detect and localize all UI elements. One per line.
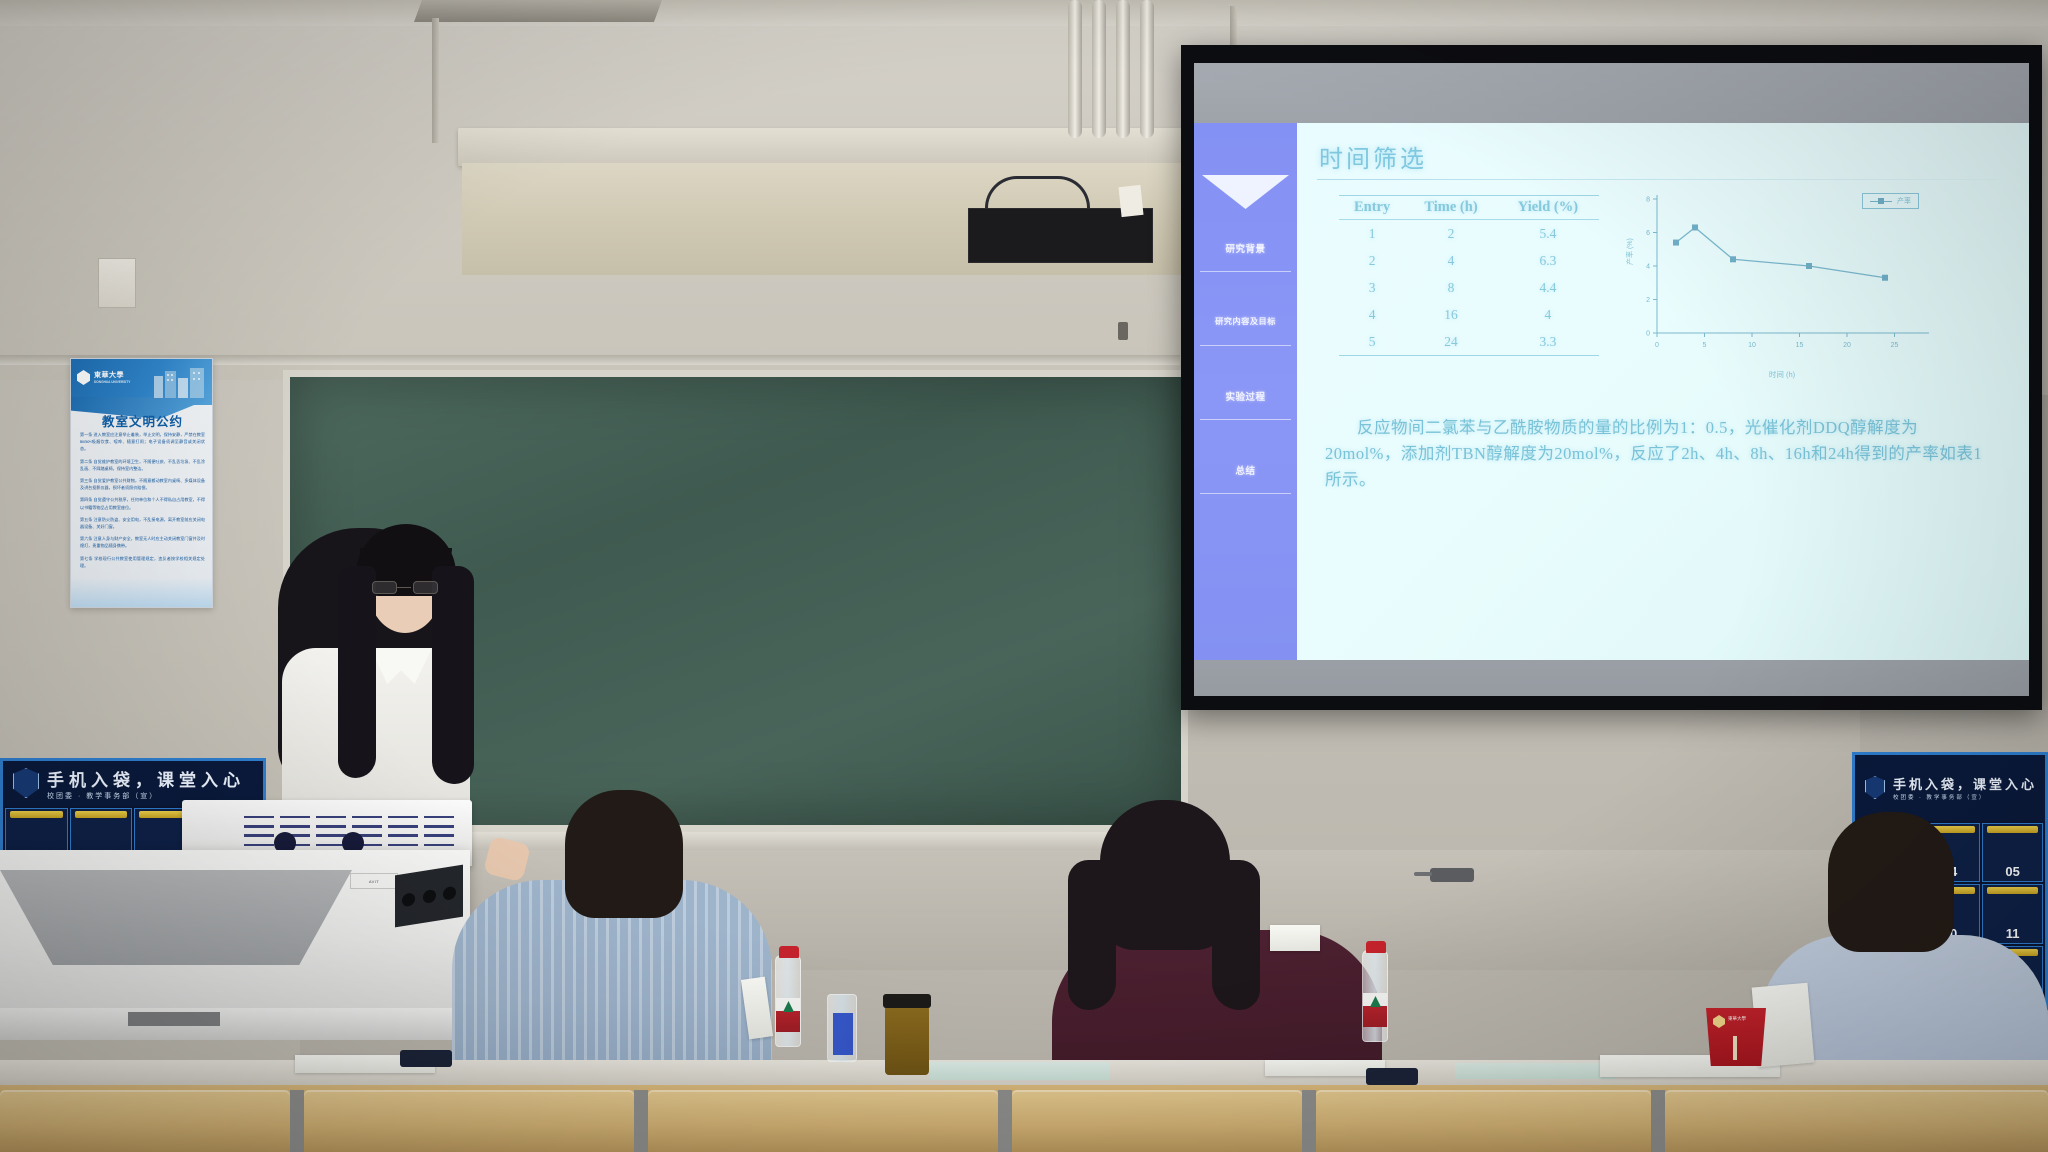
seat — [0, 1090, 290, 1152]
cell-entry: 3 — [1339, 274, 1405, 301]
chart-x-axis-label: 时间 (h) — [1627, 369, 1937, 380]
banner-header-right: 手机入袋，课堂入心 校团委 · 教学事务部（宣） — [1855, 755, 2045, 821]
sidebar-item-research-background[interactable]: 研究背景 — [1194, 241, 1297, 255]
slide-content-area: 时间筛选 Entry Time (h) Yield (%) — [1297, 123, 2029, 660]
banner-header-left: 手机入袋，课堂入心 校团委 · 教学事务部（宣） — [3, 761, 263, 806]
ceiling-strip — [0, 0, 2048, 26]
speaker-box — [395, 865, 463, 928]
slide-title: 时间筛选 — [1319, 139, 2007, 174]
tea-jar[interactable] — [885, 1005, 929, 1075]
poster-clause: 第七条 学校现行公共教室使用管理规定，违反者按学校相关规定处理。 — [80, 555, 205, 569]
cell-yield: 3.3 — [1497, 328, 1599, 356]
poster-footer-graphic — [71, 577, 213, 607]
cell-entry: 2 — [1339, 247, 1405, 274]
sidebar-divider — [1200, 345, 1291, 346]
cell-yield: 4.4 — [1497, 274, 1599, 301]
svg-text:4: 4 — [1646, 264, 1650, 271]
seat — [1665, 1090, 2048, 1152]
cell-entry: 5 — [1339, 328, 1405, 356]
pocket-number: 11 — [2006, 926, 2020, 941]
sidebar-divider — [1200, 271, 1291, 272]
water-bottle-small[interactable] — [827, 994, 857, 1062]
classroom-presentation-photo: 東華大學 DONGHUA UNIVERSITY 教室文明公约 第一条 进入教室应… — [0, 0, 2048, 1152]
yield-vs-time-chart: 产率 产率 (%) 时间 (h) 051015202502468 — [1627, 187, 1937, 377]
microphone[interactable] — [1430, 868, 1474, 882]
blue-paper-sheet — [1455, 1063, 1615, 1079]
phone-pocket[interactable]: 05 — [1982, 823, 2043, 882]
placard-emblem-icon — [1713, 1015, 1725, 1028]
table-header-row: Entry Time (h) Yield (%) — [1339, 196, 1599, 220]
cell-yield: 4 — [1497, 301, 1599, 328]
seat — [304, 1090, 634, 1152]
lectern-brand-plate: AVIT — [350, 873, 398, 889]
seat-gap — [290, 1090, 304, 1152]
poster-clause: 第四条 自觉遵守公共秩序，任何单位和个人不得私自占用教室，不得以书籍等物品占用教… — [80, 496, 205, 510]
seat-gap — [634, 1090, 648, 1152]
cell-yield: 5.4 — [1497, 220, 1599, 248]
results-table-wrapper: Entry Time (h) Yield (%) 1 2 5.4 — [1339, 195, 1599, 358]
water-bottle-large-2[interactable] — [1362, 950, 1388, 1042]
presentation-slide: 研究背景 研究内容及目标 实验过程 总结 时间筛选 — [1194, 123, 2029, 660]
ceiling-fan-rod — [432, 18, 439, 143]
bottle-cap — [779, 946, 799, 958]
banner-slogan: 手机入袋，课堂入心 — [1893, 774, 2037, 793]
jar-lid — [883, 994, 931, 1008]
sidebar-divider — [1200, 493, 1291, 494]
banner-subtitle: 校团委 · 教学事务部（宣） — [1893, 793, 2037, 801]
poster-clause: 第五条 注意防火防盗、安全用电，不乱接电源，离开教室前应关闭电器设备、关好门窗。 — [80, 516, 205, 530]
lectern-drawer-slot — [128, 1012, 220, 1026]
fluorescent-tube-light — [1068, 0, 1160, 138]
campus-building-graphic — [152, 364, 208, 398]
chart-plot-area: 051015202502468 — [1627, 187, 1937, 363]
audience-1-head — [565, 790, 683, 918]
paragraph-text: 反应物间二氯苯与乙酰胺物质的量的比例为1：0.5，光催化剂DDQ醇解度为20mo… — [1325, 418, 1982, 489]
presenter-hair-right — [432, 566, 474, 784]
placard-text: 東華大學 — [1728, 1016, 1746, 1022]
table-row: 5 24 3.3 — [1339, 328, 1599, 356]
sidebar-divider — [1200, 419, 1291, 420]
col-entry: Entry — [1339, 196, 1405, 220]
placard-stripe — [1733, 1036, 1737, 1060]
seat-gap — [1651, 1090, 1665, 1152]
svg-text:20: 20 — [1843, 342, 1851, 349]
smartphone-2[interactable] — [1366, 1068, 1418, 1085]
svg-text:15: 15 — [1796, 342, 1804, 349]
svg-text:8: 8 — [1646, 197, 1650, 204]
seat — [648, 1090, 998, 1152]
chart-y-axis-label: 产率 (%) — [1625, 238, 1635, 265]
wall-socket — [98, 258, 136, 308]
seat — [1012, 1090, 1302, 1152]
banner-slogan: 手机入袋，课堂入心 — [47, 766, 245, 791]
sidebar-item-research-content-goals[interactable]: 研究内容及目标 — [1194, 315, 1297, 327]
paper-sheet — [1270, 925, 1320, 951]
table-row: 4 16 4 — [1339, 301, 1599, 328]
bottle-cap — [1366, 941, 1386, 953]
audience-3-head — [1828, 812, 1954, 952]
cell-entry: 1 — [1339, 220, 1405, 248]
table-row: 3 8 4.4 — [1339, 274, 1599, 301]
svg-text:10: 10 — [1748, 342, 1756, 349]
title-underline — [1317, 179, 1997, 180]
slide-body-paragraph: 反应物间二氯苯与乙酰胺物质的量的比例为1：0.5，光催化剂DDQ醇解度为20mo… — [1325, 415, 1985, 493]
poster-title: 教室文明公约 — [71, 411, 213, 430]
wall-hook — [1118, 322, 1128, 340]
projection-surface: 研究背景 研究内容及目标 实验过程 总结 时间筛选 — [1194, 63, 2029, 696]
table-row: 1 2 5.4 — [1339, 220, 1599, 248]
svg-text:2: 2 — [1646, 297, 1650, 304]
results-table: Entry Time (h) Yield (%) 1 2 5.4 — [1339, 195, 1599, 358]
chevron-down-icon — [1202, 175, 1289, 209]
table-row: 2 4 6.3 — [1339, 247, 1599, 274]
seat — [1316, 1090, 1651, 1152]
wall-cable — [985, 176, 1090, 208]
cell-time: 24 — [1405, 328, 1497, 356]
legend-label: 产率 — [1897, 196, 1911, 206]
seat-gap — [998, 1090, 1012, 1152]
poster-clause: 第二条 自觉维护教室的环境卫生，不随便吐痰、不乱丢垃圾、不乱涂乱画、不踩踏桌椅，… — [80, 458, 205, 472]
smartphone[interactable] — [400, 1050, 452, 1067]
blue-paper-sheet — [930, 1062, 1110, 1080]
poster-clause: 第六条 注意人身与财产安全，教室无人时应主动关闭教室门窗并及时熄灯，贵重物品随身… — [80, 535, 205, 549]
water-bottle-large[interactable] — [775, 955, 801, 1047]
poster-clause: 第一条 进入教室应注意举止着装，举止文明，保持安静，严禁在教室включ吸烟饮食… — [80, 431, 205, 453]
cell-yield: 6.3 — [1497, 247, 1599, 274]
cell-entry: 4 — [1339, 301, 1405, 328]
bottle-label — [776, 998, 800, 1032]
lectern-front-panel — [0, 870, 352, 965]
svg-text:0: 0 — [1646, 331, 1650, 338]
cell-time: 2 — [1405, 220, 1497, 248]
poster-clause: 第三条 自觉爱护教室公共财物，不随意搬动教室内桌椅、多媒体设备及讲台投影仪器，损… — [80, 477, 205, 491]
table-bottom-rule — [1339, 356, 1599, 358]
screen-letterbox-top — [1194, 63, 2029, 123]
svg-text:5: 5 — [1703, 342, 1707, 349]
phone-pocket[interactable]: 11 — [1982, 884, 2043, 943]
lectern-base — [0, 1008, 470, 1040]
pocket-number: 05 — [2005, 864, 2019, 879]
ceiling-fan-blade — [414, 0, 662, 22]
classroom-rules-poster: 東華大學 DONGHUA UNIVERSITY 教室文明公约 第一条 进入教室应… — [70, 358, 213, 608]
slide-sidebar-nav: 研究背景 研究内容及目标 实验过程 总结 — [1194, 123, 1297, 660]
col-time: Time (h) — [1405, 196, 1497, 220]
sidebar-item-summary[interactable]: 总结 — [1194, 463, 1297, 477]
projection-screen: 研究背景 研究内容及目标 实验过程 总结 时间筛选 — [1181, 45, 2042, 710]
cell-time: 8 — [1405, 274, 1497, 301]
svg-text:0: 0 — [1655, 342, 1659, 349]
glasses-icon — [372, 581, 438, 594]
red-name-placard: 東華大學 — [1706, 1008, 1766, 1066]
presenter-hair-left — [338, 566, 376, 778]
col-yield: Yield (%) — [1497, 196, 1599, 220]
poster-body-text: 第一条 进入教室应注意举止着装，举止文明，保持安静，严禁在教室включ吸烟饮食… — [80, 431, 205, 574]
school-emblem-icon — [13, 768, 39, 798]
cell-time: 16 — [1405, 301, 1497, 328]
audience-2-head — [1100, 800, 1230, 950]
legend-line-marker-icon — [1870, 201, 1892, 202]
svg-text:25: 25 — [1891, 342, 1899, 349]
equipment-tag — [1118, 185, 1143, 217]
chart-legend: 产率 — [1862, 193, 1919, 209]
seat-gap — [1302, 1090, 1316, 1152]
cell-time: 4 — [1405, 247, 1497, 274]
sidebar-item-experimental-process[interactable]: 实验过程 — [1194, 389, 1297, 403]
bottle-label — [1363, 993, 1387, 1027]
school-emblem-icon — [1865, 776, 1885, 799]
svg-text:6: 6 — [1646, 230, 1650, 237]
poster-university-name: 東華大學 DONGHUA UNIVERSITY — [94, 370, 130, 384]
